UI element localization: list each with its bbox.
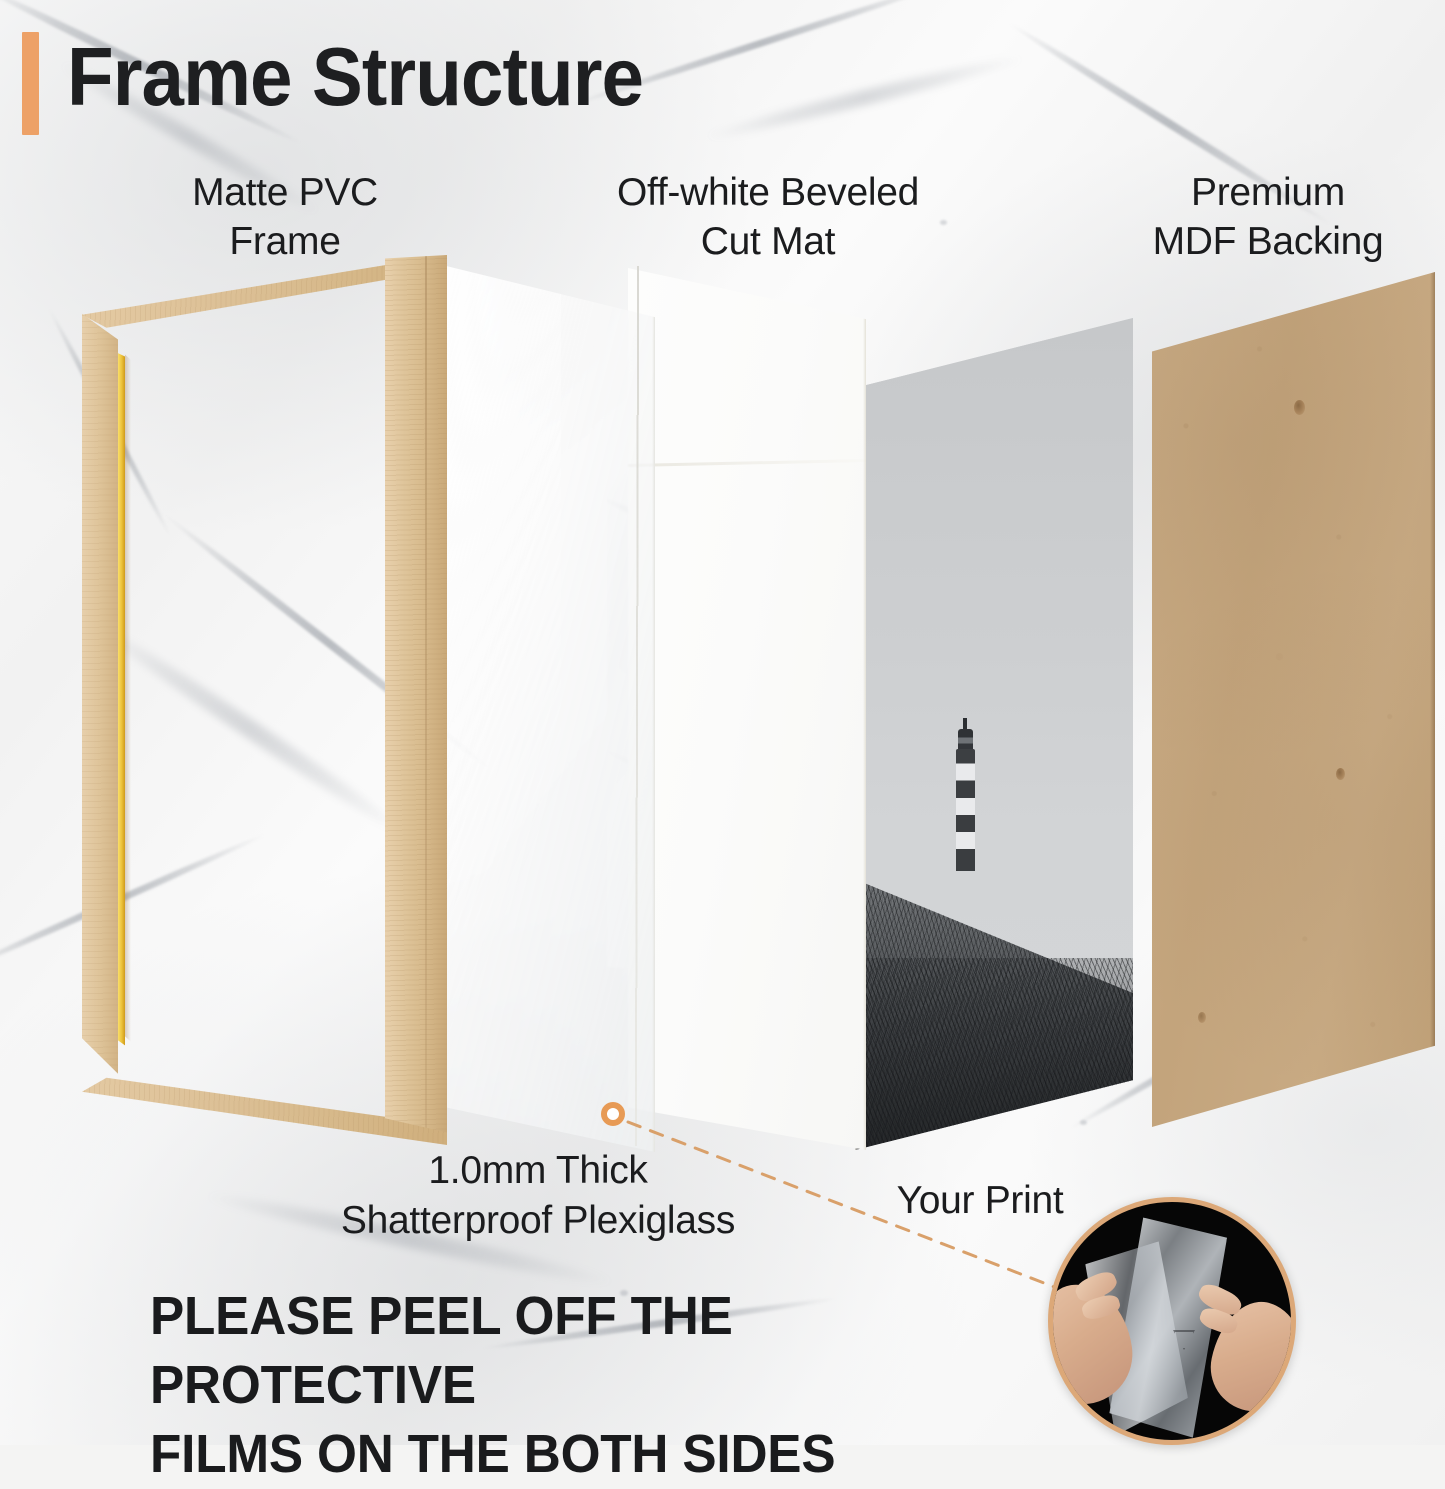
layer-print-photo: [855, 318, 1133, 1150]
layer-mdf-backing: [1152, 272, 1435, 1127]
frame-right-stile: [385, 255, 447, 1145]
warning-line-2-prefix: FILMS ON THE: [150, 1424, 524, 1484]
protective-film-photo-inset: [1048, 1197, 1296, 1445]
warning-line-2-highlight: BOTH SIDES: [524, 1420, 836, 1489]
layer-cut-mat: [628, 268, 866, 1150]
warning-line-2: FILMS ON THE BOTH SIDES: [150, 1420, 1005, 1489]
mdf-knot: [1198, 1012, 1206, 1023]
caption-plexiglass: 1.0mm Thick Shatterproof Plexiglass: [218, 1146, 858, 1246]
frame-left-stile: [82, 255, 118, 1145]
mdf-knot: [1294, 400, 1305, 415]
mdf-right-edge: [1430, 272, 1435, 1127]
plexiglass-right-edge: [652, 262, 655, 1152]
lighthouse-lantern: [958, 729, 973, 750]
hand-right: [1203, 1294, 1296, 1421]
layer-matte-pvc-frame: [82, 255, 447, 1145]
callout-marker-icon: [601, 1102, 625, 1126]
warning-text: PLEASE PEEL OFF THE PROTECTIVE FILMS ON …: [150, 1282, 1005, 1489]
mat-bevel-edge: [628, 459, 866, 467]
layer-plexiglass: [430, 262, 655, 1152]
warning-line-1: PLEASE PEEL OFF THE PROTECTIVE: [150, 1282, 1005, 1420]
caption-your-print: Your Print: [860, 1178, 1100, 1225]
plexiglass-sheen: [430, 262, 561, 1152]
mdf-knot: [1336, 768, 1345, 780]
frame-lip-shadow: [125, 255, 131, 1145]
caption-line: 1.0mm Thick: [218, 1146, 858, 1196]
mat-right-edge: [863, 268, 866, 1150]
lighthouse-tower: [956, 749, 975, 871]
photo-dune-grass-foreground: [855, 958, 1133, 1150]
mdf-grain-texture: [1152, 272, 1435, 1127]
frame-edge-seam: [425, 255, 427, 1145]
caption-line: Shatterproof Plexiglass: [218, 1196, 858, 1246]
